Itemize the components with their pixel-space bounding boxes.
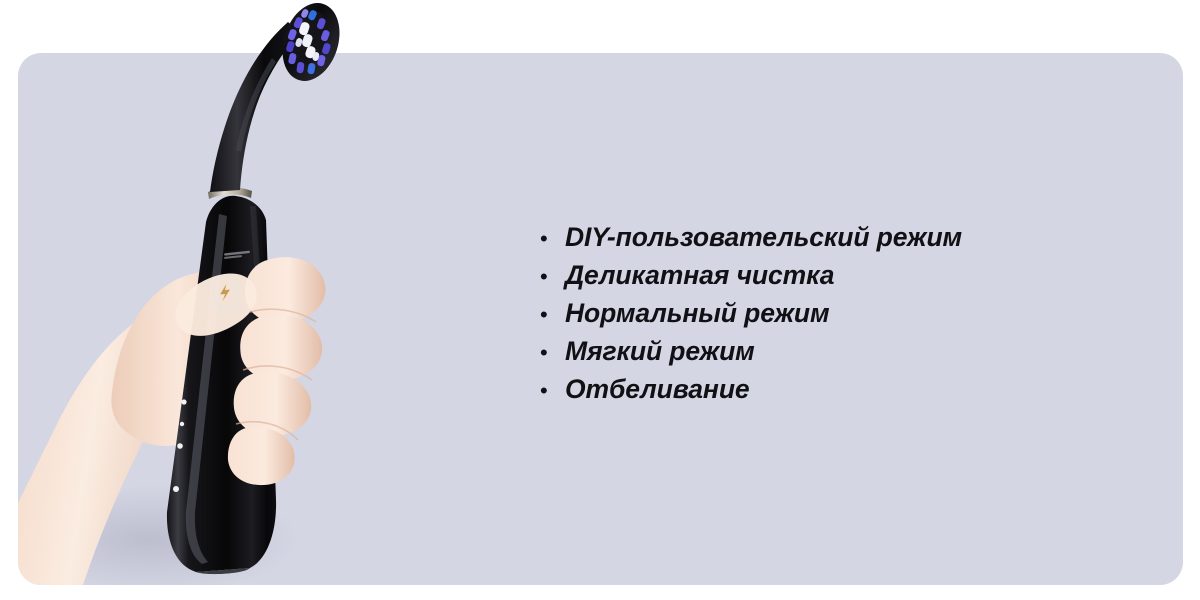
banner-root: • DIY-пользовательский режим • Деликатна… [0,0,1200,600]
feature-label: Мягкий режим [565,336,755,366]
feature-list: • DIY-пользовательский режим • Деликатна… [540,222,1160,412]
feature-label: DIY-пользовательский режим [565,222,962,252]
bullet-icon: • [540,342,565,364]
bullet-icon: • [540,304,565,326]
bullet-icon: • [540,380,565,402]
feature-item-4: • Отбеливание [540,374,1160,412]
feature-item-0: • DIY-пользовательский режим [540,222,1160,260]
bullet-icon: • [540,228,565,250]
bullet-icon: • [540,266,565,288]
feature-label: Деликатная чистка [565,260,834,290]
feature-item-3: • Мягкий режим [540,336,1160,374]
feature-item-1: • Деликатная чистка [540,260,1160,298]
feature-label: Нормальный режим [565,298,830,328]
feature-item-2: • Нормальный режим [540,298,1160,336]
feature-label: Отбеливание [565,374,750,404]
